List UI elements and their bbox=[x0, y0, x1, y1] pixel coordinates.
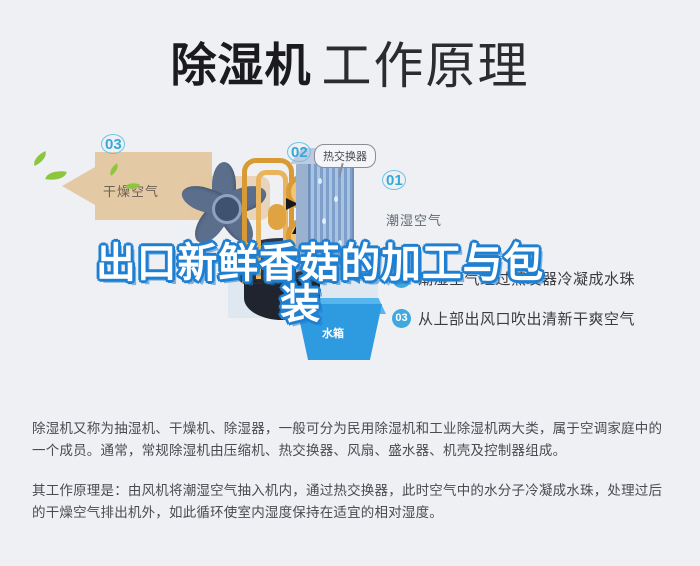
humid-air-label: 潮湿空气 bbox=[386, 210, 442, 229]
leaf-icon bbox=[31, 151, 49, 166]
fan-hub-icon bbox=[212, 194, 242, 224]
leaf-icon bbox=[45, 168, 67, 182]
dehumidifier-diagram: 干燥空气 压缩机 水箱 热交换器 bbox=[0, 118, 700, 388]
water-droplet-icon bbox=[318, 178, 322, 184]
water-tank-label: 水箱 bbox=[322, 325, 344, 341]
evaporator-icon bbox=[308, 160, 354, 270]
step-number-badge: 02 bbox=[392, 269, 411, 288]
water-droplet-icon bbox=[334, 196, 338, 202]
diagram-marker-01: 01 bbox=[386, 172, 403, 189]
heat-exchanger-callout: 热交换器 bbox=[314, 144, 376, 168]
title-primary: 除湿机 bbox=[171, 39, 312, 91]
step-label: 从上部出风口吹出清新干爽空气 bbox=[418, 308, 635, 329]
list-item: 03 从上部出风口吹出清新干爽空气 bbox=[392, 298, 692, 338]
paragraph-definition: 除湿机又称为抽湿机、干燥机、除湿器，一般可分为民用除湿机和工业除湿机两大类，属于… bbox=[32, 418, 672, 462]
intake-arrow-icon bbox=[344, 266, 360, 284]
diagram-marker-02: 02 bbox=[291, 144, 308, 161]
water-droplet-icon bbox=[338, 240, 342, 246]
paragraph-principle: 其工作原理是：由风机将潮湿空气抽入机内，通过热交换器，此时空气中的水分子冷凝成水… bbox=[32, 480, 672, 524]
water-droplet-icon bbox=[322, 218, 326, 224]
step-label: 潮湿空气经过蒸发器冷凝成水珠 bbox=[418, 268, 635, 289]
page-title: 除湿机工作原理 bbox=[0, 26, 700, 98]
step-list: 02 潮湿空气经过蒸发器冷凝成水珠 03 从上部出风口吹出清新干爽空气 bbox=[392, 258, 692, 338]
intake-arrow-tail-icon bbox=[358, 271, 380, 279]
humid-air-swoosh-icon bbox=[398, 126, 628, 261]
title-secondary: 工作原理 bbox=[322, 38, 530, 94]
pipe-valve-icon bbox=[268, 204, 286, 230]
list-item: 02 潮湿空气经过蒸发器冷凝成水珠 bbox=[392, 258, 692, 298]
article-body: 除湿机又称为抽湿机、干燥机、除湿器，一般可分为民用除湿机和工业除湿机两大类，属于… bbox=[32, 418, 672, 542]
diagram-marker-03: 03 bbox=[105, 136, 122, 153]
step-number-badge: 03 bbox=[392, 309, 411, 328]
